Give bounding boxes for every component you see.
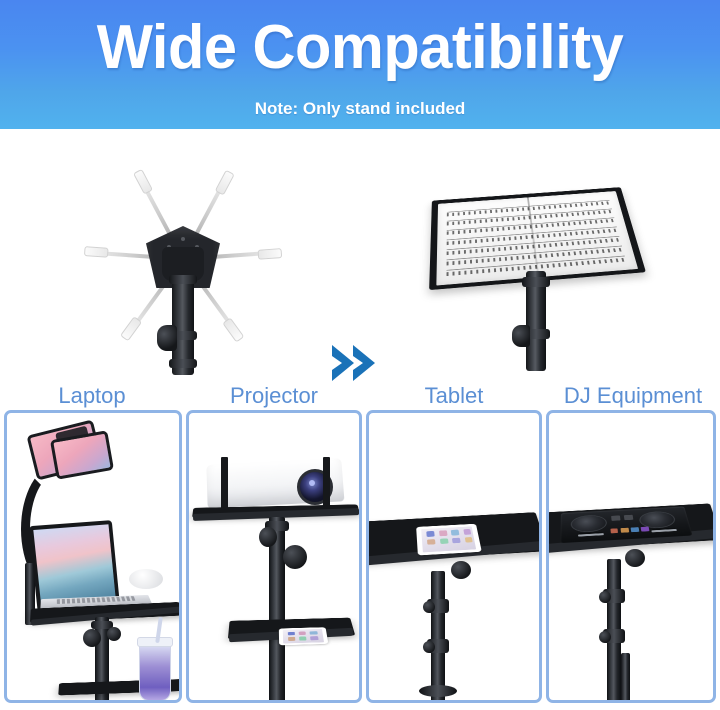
adjust-knob — [157, 325, 177, 351]
panel-labels: Laptop Projector Tablet DJ Equipment — [0, 383, 720, 411]
panel-tablet[interactable] — [366, 410, 542, 703]
tilt-knob — [625, 549, 645, 567]
stand-post — [526, 271, 546, 371]
product-compatibility-infographic: Wide Compatibility Note: Only stand incl… — [0, 0, 720, 710]
computer-mouse — [129, 569, 163, 589]
tilt-knob — [451, 561, 471, 579]
drink-cup — [139, 641, 171, 701]
book-on-stand-image — [408, 143, 673, 371]
phone-holder-clamp — [50, 430, 114, 479]
folded-stand-image — [58, 147, 308, 367]
panel-label-tablet: Tablet — [366, 383, 542, 409]
tablet-device — [416, 524, 482, 556]
tablet-device — [279, 627, 329, 645]
adjust-knob — [283, 545, 307, 569]
panel-label-laptop: Laptop — [0, 383, 184, 409]
panel-projector[interactable] — [186, 410, 362, 703]
tilt-knob — [259, 527, 277, 547]
adjust-knob — [512, 325, 530, 347]
panel-label-projector: Projector — [186, 383, 362, 409]
panel-label-dj: DJ Equipment — [546, 383, 720, 409]
double-chevron-right-icon — [330, 343, 388, 385]
hero-section — [0, 129, 720, 381]
header-banner: Wide Compatibility Note: Only stand incl… — [0, 0, 720, 129]
panel-dj-equipment[interactable] — [546, 410, 716, 703]
adjust-knob — [83, 629, 101, 647]
panel-laptop[interactable] — [4, 410, 182, 703]
use-case-panels — [0, 410, 720, 704]
banner-note: Note: Only stand included — [0, 99, 720, 119]
page-title: Wide Compatibility — [14, 17, 705, 79]
